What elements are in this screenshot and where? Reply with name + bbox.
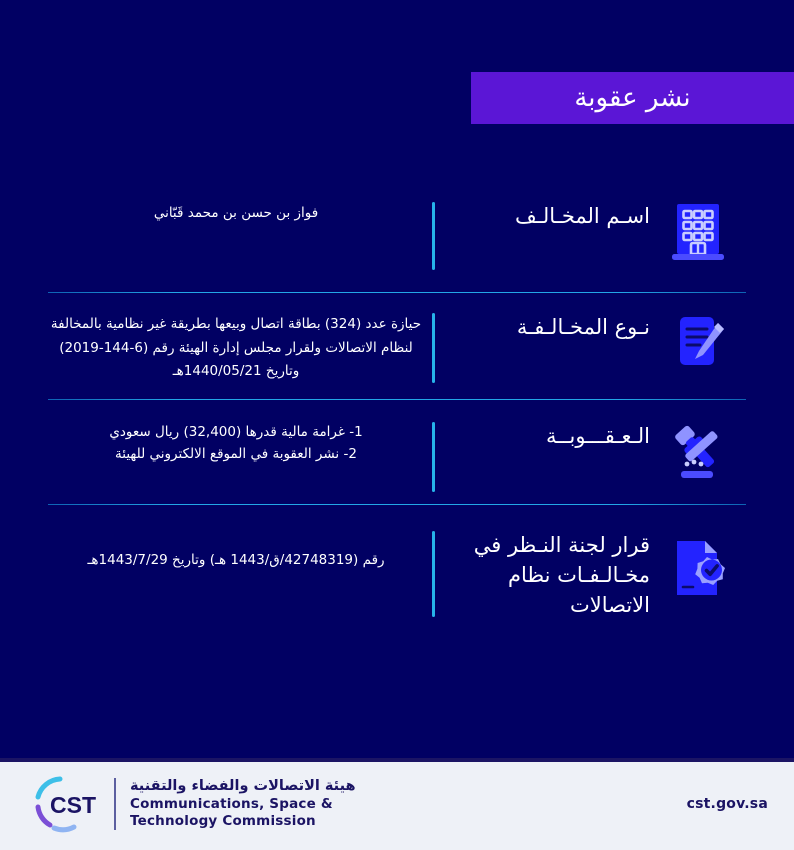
svg-text:CST: CST bbox=[50, 792, 96, 818]
footer: CST هيئة الاتصالات والفضاء والتقنية Comm… bbox=[0, 758, 794, 850]
label-violation-type: نـوع المخـالـفـة bbox=[447, 307, 652, 343]
penalty-line-1: 1- غرامة مالية قدرها (32,400) ريال سعودي bbox=[109, 422, 362, 444]
row-violator-name: اسـم المخـالـف فواز بن حسن بن محمد قَبّا… bbox=[0, 196, 794, 292]
row-violation-type: نـوع المخـالـفـة حيازة عدد (324) بطاقة ا… bbox=[0, 293, 794, 399]
accent-bar bbox=[432, 313, 435, 383]
building-icon bbox=[652, 196, 744, 264]
brand-name-en-line1: Communications, Space & bbox=[130, 796, 356, 813]
label-text: نـوع المخـالـفـة bbox=[447, 313, 652, 343]
footer-accent-bar bbox=[0, 758, 794, 762]
brand-name-en-line2: Technology Commission bbox=[130, 813, 356, 830]
accent-bar bbox=[432, 531, 435, 617]
value-violator-name: فواز بن حسن بن محمد قَبّاني bbox=[40, 196, 432, 226]
penalty-line-2: 2- نشر العقوبة في الموقع الالكتروني للهي… bbox=[109, 444, 362, 466]
label-violator-name: اسـم المخـالـف bbox=[447, 196, 652, 232]
penalty-publication-poster: نشر عقوبة bbox=[0, 0, 794, 850]
logo-divider bbox=[114, 778, 116, 830]
value-text: فواز بن حسن بن محمد قَبّاني bbox=[154, 202, 318, 226]
brand-lockup: CST هيئة الاتصالات والفضاء والتقنية Comm… bbox=[30, 773, 356, 835]
document-pen-icon bbox=[652, 307, 744, 375]
brand-text: هيئة الاتصالات والفضاء والتقنية Communic… bbox=[130, 777, 356, 830]
value-penalty: 1- غرامة مالية قدرها (32,400) ريال سعودي… bbox=[40, 416, 432, 465]
page-title: نشر عقوبة bbox=[574, 85, 690, 111]
header-band: نشر عقوبة bbox=[0, 72, 794, 124]
row-committee-decision: قرار لجنة النـظر في مخـالـفـات نظام الات… bbox=[0, 505, 794, 625]
accent-bar bbox=[432, 422, 435, 492]
value-text: حيازة عدد (324) بطاقة اتصال وبيعها بطريق… bbox=[50, 313, 422, 384]
header-chip: نشر عقوبة bbox=[471, 72, 794, 124]
brand-name-ar: هيئة الاتصالات والفضاء والتقنية bbox=[130, 777, 356, 796]
value-violation-type: حيازة عدد (324) بطاقة اتصال وبيعها بطريق… bbox=[40, 307, 432, 384]
label-text: اسـم المخـالـف bbox=[447, 202, 652, 232]
value-committee-decision: رقم (42748319/ق/1443 هـ) وتاريخ 1443/7/2… bbox=[40, 525, 432, 573]
row-penalty: الـعـقـــوبــة 1- غرامة مالية قدرها (32,… bbox=[0, 400, 794, 504]
value-text-block: 1- غرامة مالية قدرها (32,400) ريال سعودي… bbox=[109, 422, 362, 465]
gavel-icon bbox=[652, 416, 744, 484]
details-list: اسـم المخـالـف فواز بن حسن بن محمد قَبّا… bbox=[0, 196, 794, 625]
accent-bar bbox=[432, 202, 435, 270]
label-committee-decision: قرار لجنة النـظر في مخـالـفـات نظام الات… bbox=[447, 525, 652, 620]
value-text: رقم (42748319/ق/1443 هـ) وتاريخ 1443/7/2… bbox=[87, 549, 384, 573]
label-text: الـعـقـــوبــة bbox=[447, 422, 652, 452]
footer-url[interactable]: cst.gov.sa bbox=[687, 796, 768, 812]
document-check-icon bbox=[652, 525, 744, 605]
cst-logo-icon: CST bbox=[30, 773, 100, 835]
label-text: قرار لجنة النـظر في مخـالـفـات نظام الات… bbox=[447, 531, 652, 620]
label-penalty: الـعـقـــوبــة bbox=[447, 416, 652, 452]
